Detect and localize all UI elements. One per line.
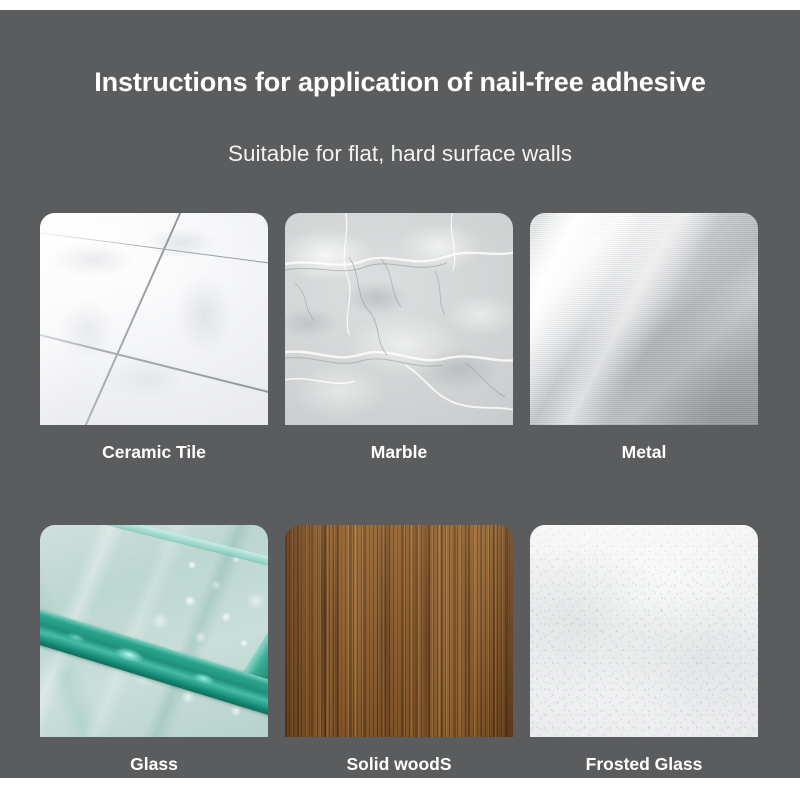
surface-cell-marble[interactable]: Marble bbox=[285, 213, 513, 463]
surface-label: Marble bbox=[285, 442, 513, 463]
page-subtitle: Suitable for flat, hard surface walls bbox=[0, 141, 800, 167]
glass-swatch[interactable] bbox=[40, 525, 268, 737]
surface-cell-frosted-glass[interactable]: Frosted Glass bbox=[530, 525, 758, 775]
surface-cell-glass[interactable]: Glass bbox=[40, 525, 268, 775]
surface-row: Glass Solid woodS Frosted Glass bbox=[40, 525, 758, 775]
surface-cell-solid-wood[interactable]: Solid woodS bbox=[285, 525, 513, 775]
metal-swatch[interactable] bbox=[530, 213, 758, 425]
surface-grid: Ceramic Tile bbox=[40, 213, 758, 775]
marble-vein-lines bbox=[285, 213, 513, 425]
instruction-panel: Instructions for application of nail-fre… bbox=[0, 10, 800, 778]
surface-label: Glass bbox=[40, 754, 268, 775]
surface-cell-ceramic-tile[interactable]: Ceramic Tile bbox=[40, 213, 268, 463]
marble-swatch[interactable] bbox=[285, 213, 513, 425]
solid-wood-swatch[interactable] bbox=[285, 525, 513, 737]
page-title: Instructions for application of nail-fre… bbox=[0, 67, 800, 98]
frosted-shading bbox=[530, 525, 758, 737]
surface-row: Ceramic Tile bbox=[40, 213, 758, 463]
ceramic-tile-swatch[interactable] bbox=[40, 213, 268, 425]
surface-label: Ceramic Tile bbox=[40, 442, 268, 463]
surface-label: Frosted Glass bbox=[530, 754, 758, 775]
surface-label: Solid woodS bbox=[285, 754, 513, 775]
surface-cell-metal[interactable]: Metal bbox=[530, 213, 758, 463]
gloss-highlight bbox=[40, 213, 268, 425]
metal-shading bbox=[530, 213, 758, 425]
frosted-glass-swatch[interactable] bbox=[530, 525, 758, 737]
wood-shading bbox=[285, 525, 513, 737]
surface-label: Metal bbox=[530, 442, 758, 463]
